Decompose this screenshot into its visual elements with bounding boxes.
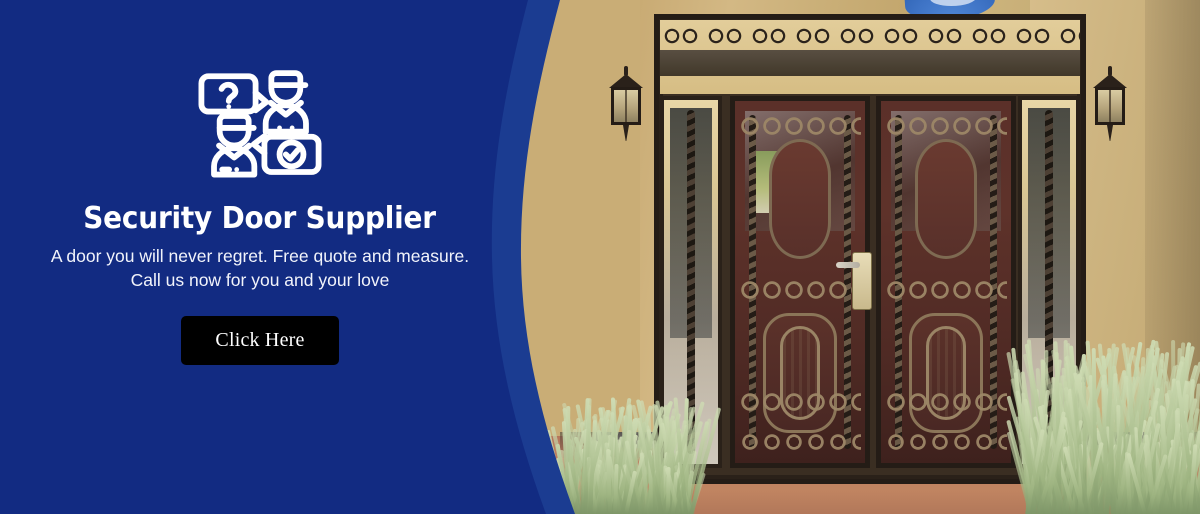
door-right-scrollwork-top — [885, 105, 1007, 147]
wall-lantern-left — [606, 64, 646, 142]
lantern-left-stem — [623, 125, 629, 141]
customer-support-consultation-icon — [197, 58, 323, 184]
door-left-scrollwork-lower — [739, 381, 861, 423]
banner-subtext-line-1: A door you will never regret. Free quote… — [51, 246, 469, 266]
banner-subtext: A door you will never regret. Free quote… — [51, 245, 469, 292]
lantern-left-cap — [609, 74, 643, 88]
door-right-scrollwork-lower — [885, 381, 1007, 423]
door-left-center-panel — [769, 139, 831, 259]
banner-content: Security Door Supplier A door you will n… — [0, 0, 520, 514]
door-leaf-left — [730, 96, 870, 468]
door-leaf-right — [876, 96, 1016, 468]
door-left-scrollwork-mid — [739, 269, 861, 311]
shrub-right — [1025, 334, 1200, 514]
click-here-button[interactable]: Click Here — [181, 316, 338, 365]
hero-banner: Security Door Supplier A door you will n… — [0, 0, 1200, 514]
door-right-center-panel — [915, 139, 977, 259]
lantern-left-body — [611, 87, 641, 125]
lantern-right-stem — [1107, 125, 1113, 141]
door-lock-plate — [852, 252, 872, 310]
wall-lantern-right — [1090, 64, 1130, 142]
shrub-left — [560, 394, 690, 514]
door-right-scrollwork-mid — [885, 269, 1007, 311]
door-left-scrollwork-bottom — [739, 425, 861, 459]
door-right-scrollwork-bottom — [885, 425, 1007, 459]
door-left-scrollwork-top — [739, 105, 861, 147]
door-handle — [836, 262, 860, 268]
door-transom — [660, 20, 1080, 94]
banner-subtext-line-2: Call us now for you and your love — [131, 270, 390, 290]
transom-scrollwork — [660, 20, 1080, 94]
lantern-right-body — [1095, 87, 1125, 125]
page-title: Security Door Supplier — [84, 202, 437, 235]
lantern-right-cap — [1093, 74, 1127, 88]
